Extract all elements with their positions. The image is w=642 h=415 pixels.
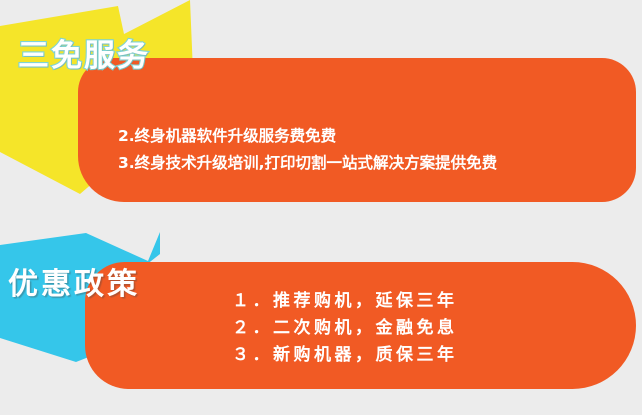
promo-poster: 三免服务 2.终身机器软件升级服务费免费 3.终身技术升级培训,打印切割一站式解…: [0, 0, 642, 415]
policy-line: ２．二次购机，金融免息: [232, 315, 458, 342]
policy-line: ３．新购机器，质保三年: [232, 342, 458, 369]
policy-line-list: １．推荐购机，延保三年 ２．二次购机，金融免息 ３．新购机器，质保三年: [232, 288, 458, 369]
service-line-list: 2.终身机器软件升级服务费免费 3.终身技术升级培训,打印切割一站式解决方案提供…: [118, 123, 497, 177]
service-title: 三免服务: [18, 41, 150, 72]
service-line: 3.终身技术升级培训,打印切割一站式解决方案提供免费: [118, 150, 497, 177]
policy-title: 优惠政策: [8, 270, 140, 300]
service-line: 2.终身机器软件升级服务费免费: [118, 123, 497, 150]
policy-line: １．推荐购机，延保三年: [232, 288, 458, 315]
